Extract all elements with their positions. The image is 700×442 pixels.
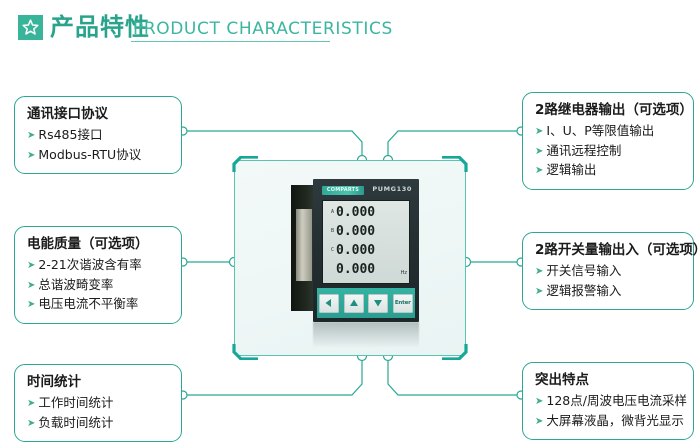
arrow-bullet-icon: ➤ [535,143,543,161]
corner-bracket-bottom-left-icon [232,344,258,360]
callout-title: 2路继电器输出（可选项） [535,101,683,120]
list-item-label: 负载时间统计 [38,414,113,432]
list-item: ➤ 大屏幕液晶，微背光显示 [535,412,683,432]
list-item-label: 2-21次谐波含有率 [38,256,141,274]
arrow-bullet-icon: ➤ [535,283,543,301]
callout-bullet-list: ➤ I、U、P等限值输出 ➤ 通讯远程控制 ➤ 逻辑输出 [535,122,683,181]
key-enter-label: Enter [395,300,411,306]
list-item-label: Modbus-RTU协议 [38,146,141,164]
list-item-label: 总谐波畸变率 [38,276,113,294]
corner-bracket-top-left-icon [232,156,258,172]
corner-bracket-top-right-icon [442,156,468,172]
callout-bullet-list: ➤ Rs485接口 ➤ Modbus-RTU协议 [27,126,171,165]
arrow-bullet-icon: ➤ [27,257,35,275]
lcd-row-value: 0.000 [336,244,375,257]
device-model-label: PUMG130 [372,185,412,193]
lcd-row: B 0.000 [323,223,409,239]
device-keypad: Enter [317,288,415,318]
lcd-row-value: 0.000 [336,206,375,219]
callout-highlights[interactable]: 突出特点 ➤ 128点/周波电压电流采样 ➤ 大屏幕液晶，微背光显示 [522,362,694,440]
lcd-row: A 0.000 [323,204,409,220]
lcd-row-tag: C [323,247,336,253]
arrow-bullet-icon: ➤ [535,162,543,180]
list-item: ➤ 电压电流不平衡率 [27,295,171,315]
callout-title: 电能质量（可选项） [27,235,171,254]
callout-switch-io[interactable]: 2路开关量输出入（可选项） ➤ 开关信号输入 ➤ 逻辑报警输入 [522,232,694,310]
list-item-label: Rs485接口 [38,126,102,144]
lcd-row: 0.000 Hz [323,261,409,277]
arrow-bullet-icon: ➤ [27,127,35,145]
callout-bullet-list: ➤ 开关信号输入 ➤ 逻辑报警输入 [535,262,683,301]
list-item: ➤ 工作时间统计 [27,394,171,414]
key-left-button[interactable] [319,294,339,313]
key-down-button[interactable] [368,294,388,313]
arrow-bullet-icon: ➤ [535,263,543,281]
list-item: ➤ Modbus-RTU协议 [27,146,171,166]
list-item-label: 逻辑输出 [546,161,596,179]
device-terminal-block [296,209,312,281]
key-enter-button[interactable]: Enter [393,294,413,313]
list-item-label: 通讯远程控制 [546,142,621,160]
lcd-row: C 0.000 [323,242,409,258]
lcd-unit-label: Hz [401,270,407,276]
list-item: ➤ 逻辑输出 [535,161,683,181]
callout-bullet-list: ➤ 128点/周波电压电流采样 ➤ 大屏幕液晶，微背光显示 [535,392,683,431]
arrow-bullet-icon: ➤ [27,395,35,413]
callout-time-statistics[interactable]: 时间统计 ➤ 工作时间统计 ➤ 负载时间统计 [14,364,182,442]
device-reflection [313,322,419,348]
callout-title: 时间统计 [27,373,171,392]
device-brand-logo: COMPARTS [322,186,364,195]
lcd-row-tag: B [323,228,336,234]
callout-power-quality[interactable]: 电能质量（可选项） ➤ 2-21次谐波含有率 ➤ 总谐波畸变率 ➤ 电压电流不平… [14,226,182,324]
callout-title: 突出特点 [535,371,683,390]
key-up-button[interactable] [344,294,364,313]
list-item: ➤ 逻辑报警输入 [535,282,683,302]
corner-bracket-bottom-right-icon [442,344,468,360]
callout-title: 2路开关量输出入（可选项） [535,241,683,260]
list-item-label: 大屏幕液晶，微背光显示 [546,412,684,430]
list-item-label: 逻辑报警输入 [546,282,621,300]
list-item: ➤ 通讯远程控制 [535,142,683,162]
list-item-label: 开关信号输入 [546,262,621,280]
lcd-row-tag: A [323,209,336,215]
device-front-panel: COMPARTS PUMG130 A 0.000 B 0.000 C 0.000 [313,179,419,322]
arrow-bullet-icon: ➤ [535,123,543,141]
list-item: ➤ I、U、P等限值输出 [535,122,683,142]
arrow-bullet-icon: ➤ [27,415,35,433]
list-item: ➤ 128点/周波电压电流采样 [535,392,683,412]
callout-title: 通讯接口协议 [27,105,171,124]
arrow-bullet-icon: ➤ [27,277,35,295]
list-item: ➤ 总谐波畸变率 [27,276,171,296]
list-item-label: 128点/周波电压电流采样 [546,392,687,410]
arrow-bullet-icon: ➤ [535,393,543,411]
product-characteristics-page: 产品特性 PRODUCT CHARACTERISTICS [0,0,700,442]
lcd-row-value: 0.000 [336,225,375,238]
lcd-row-value: 0.000 [336,263,375,276]
device-lcd-display: A 0.000 B 0.000 C 0.000 0.000 Hz [322,200,410,284]
callout-relay-output[interactable]: 2路继电器输出（可选项） ➤ I、U、P等限值输出 ➤ 通讯远程控制 ➤ 逻辑输… [522,92,694,190]
callout-bullet-list: ➤ 2-21次谐波含有率 ➤ 总谐波畸变率 ➤ 电压电流不平衡率 [27,256,171,315]
callout-communication-interface[interactable]: 通讯接口协议 ➤ Rs485接口 ➤ Modbus-RTU协议 [14,96,182,174]
power-meter-device: COMPARTS PUMG130 A 0.000 B 0.000 C 0.000 [291,179,419,327]
list-item: ➤ Rs485接口 [27,126,171,146]
arrow-bullet-icon: ➤ [27,147,35,165]
list-item-label: 电压电流不平衡率 [38,295,138,313]
list-item-label: 工作时间统计 [38,394,113,412]
callout-bullet-list: ➤ 工作时间统计 ➤ 负载时间统计 [27,394,171,433]
list-item-label: I、U、P等限值输出 [546,122,654,140]
list-item: ➤ 负载时间统计 [27,414,171,434]
list-item: ➤ 开关信号输入 [535,262,683,282]
arrow-bullet-icon: ➤ [27,296,35,314]
product-stage: COMPARTS PUMG130 A 0.000 B 0.000 C 0.000 [234,160,466,356]
list-item: ➤ 2-21次谐波含有率 [27,256,171,276]
arrow-bullet-icon: ➤ [535,413,543,431]
